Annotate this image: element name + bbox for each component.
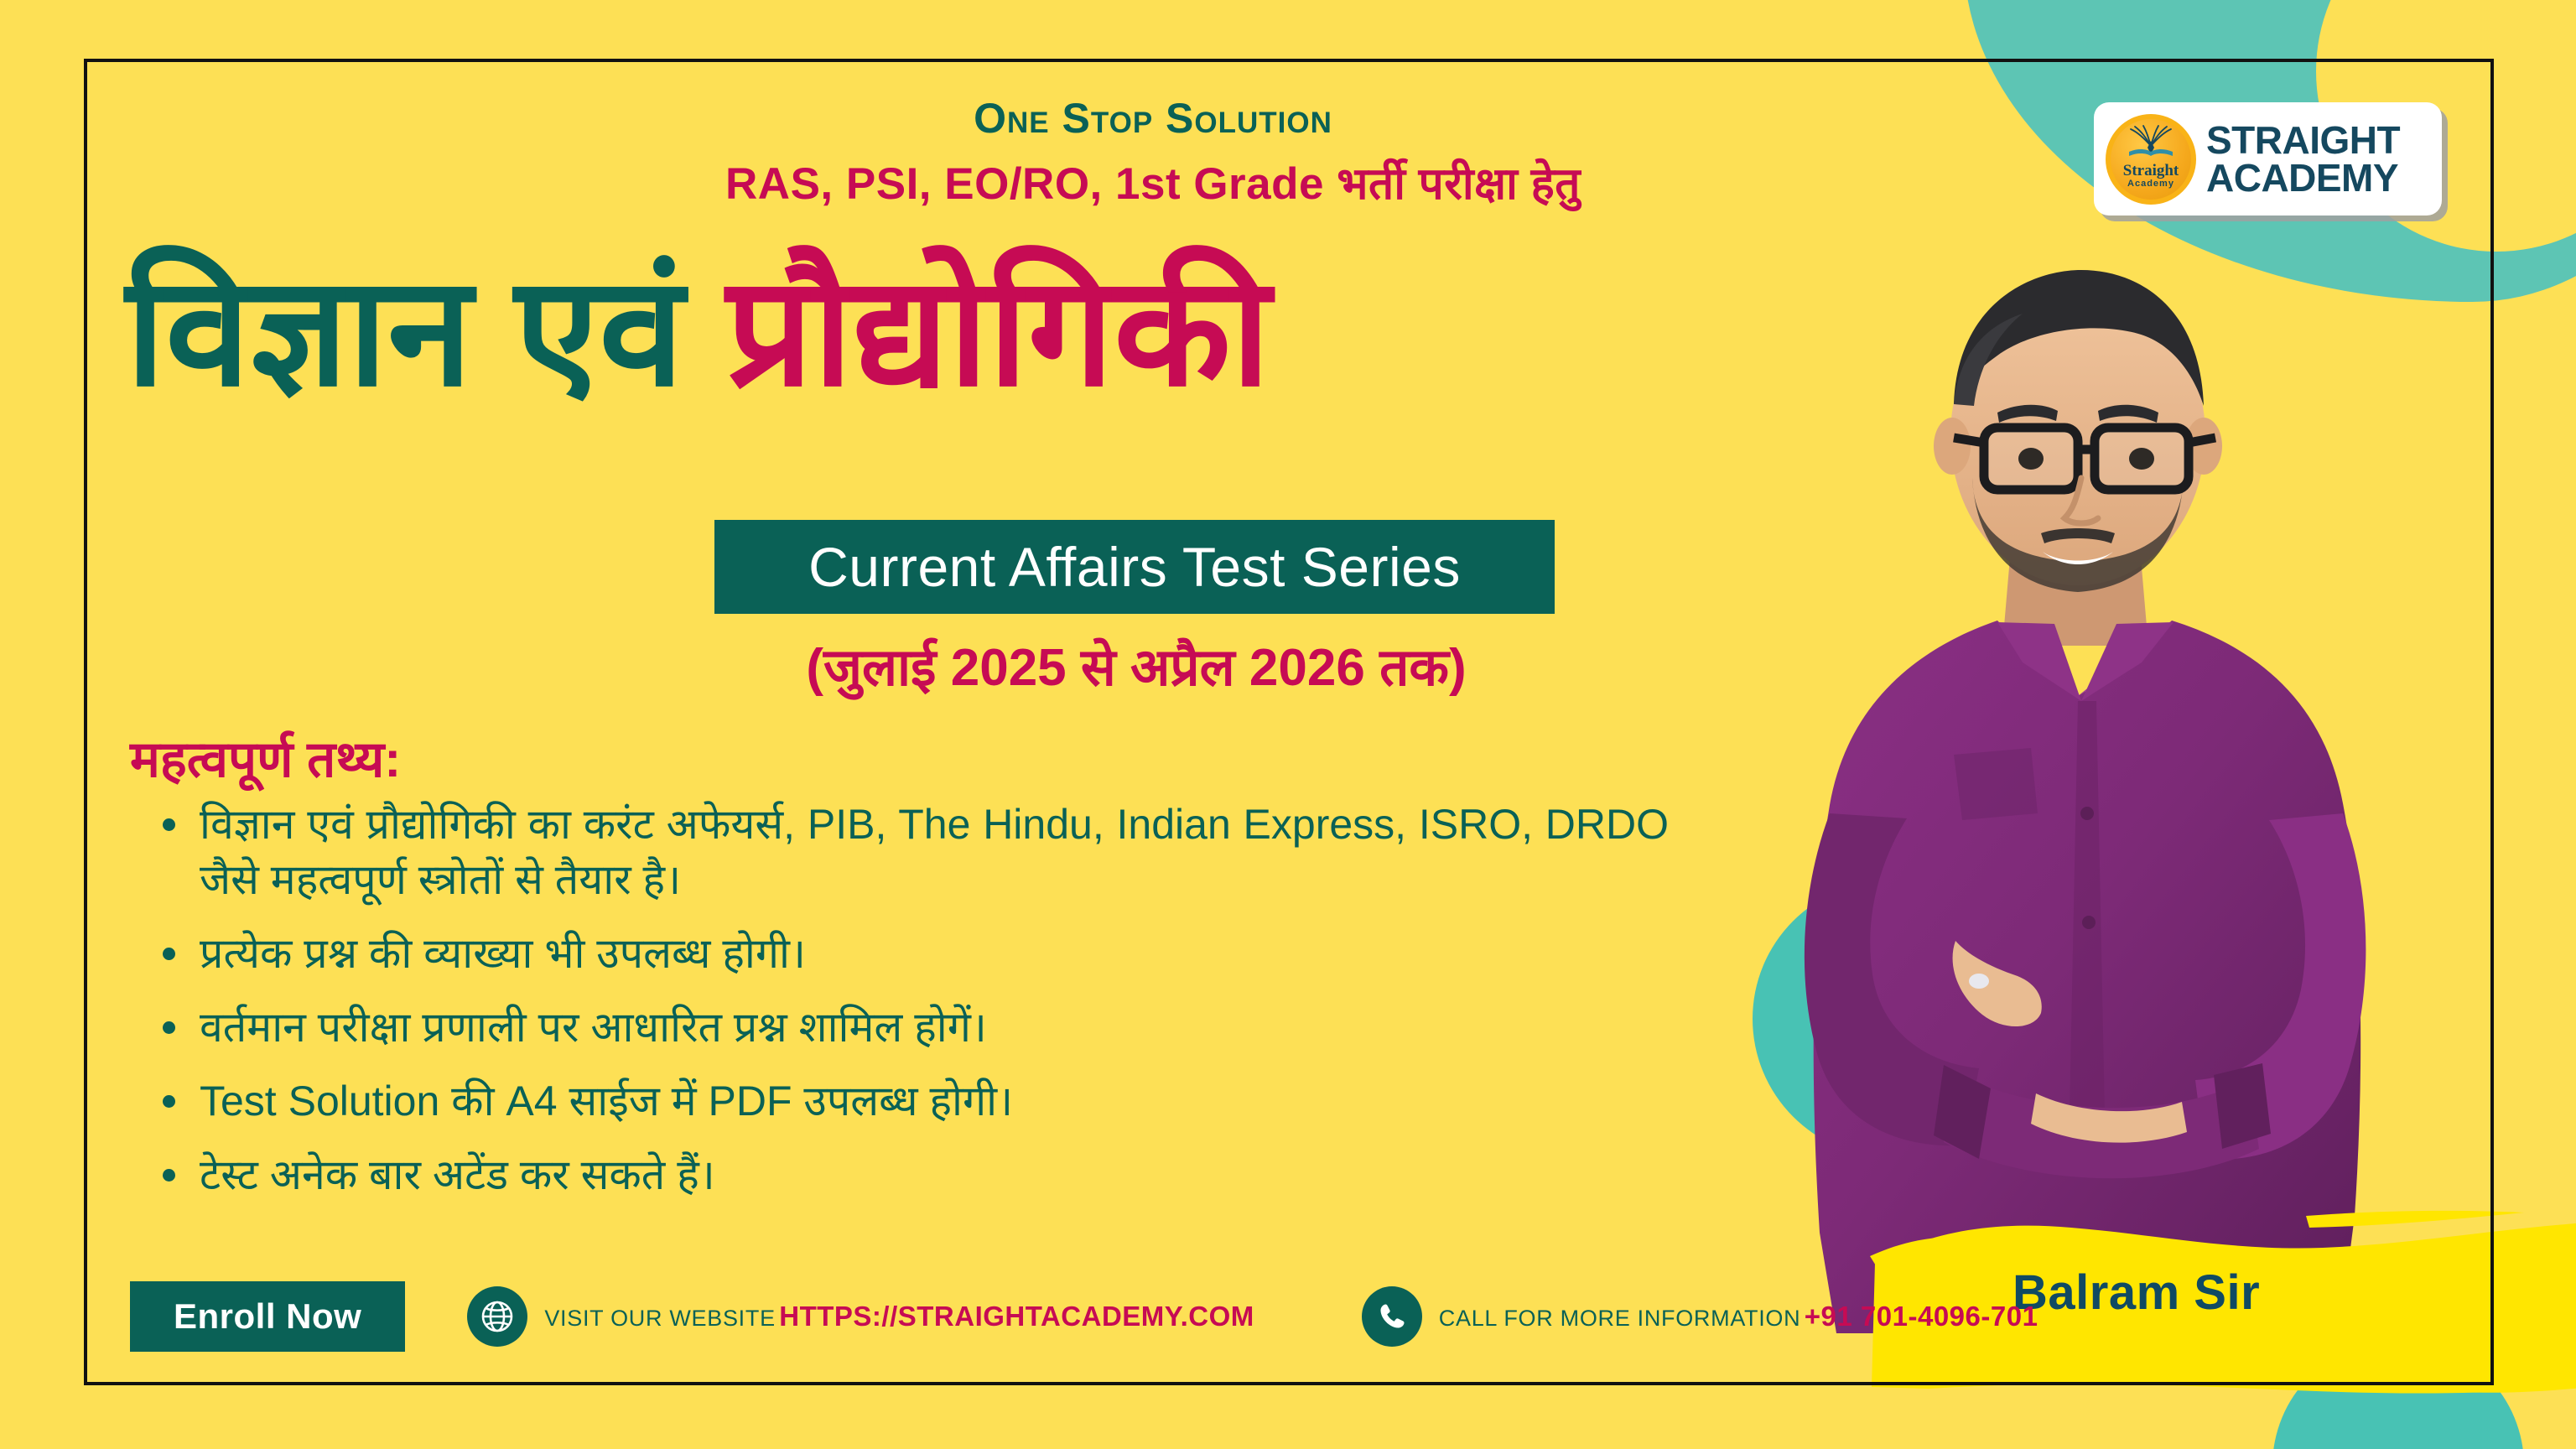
list-item: विज्ञान एवं प्रौद्योगिकी का करंट अफेयर्स… <box>151 797 1669 907</box>
enroll-now-button[interactable]: Enroll Now <box>130 1281 405 1352</box>
website-contact-block[interactable]: VISIT OUR WEBSITE HTTPS://STRAIGHTACADEM… <box>467 1286 1254 1347</box>
website-contact-text: VISIT OUR WEBSITE HTTPS://STRAIGHTACADEM… <box>544 1300 1254 1333</box>
exam-list-line: RAS, PSI, EO/RO, 1st Grade भर्ती परीक्षा… <box>0 151 2306 212</box>
page-title: विज्ञान एवं प्रौद्योगिकी <box>126 252 2012 412</box>
phone-contact-text: CALL FOR MORE INFORMATION +91 701-4096-7… <box>1439 1300 2038 1333</box>
eyebrow-tagline: One Stop Solution <box>0 94 2306 143</box>
highlights-list: विज्ञान एवं प्रौद्योगिकी का करंट अफेयर्स… <box>151 797 1669 1221</box>
course-date-range: (जुलाई 2025 से अप्रैल 2026 तक) <box>696 631 1576 701</box>
page-title-part-pink: प्रौद्योगिकी <box>726 246 1270 417</box>
footer-bar: Enroll Now VISIT OUR WEBSITE HTTPS://STR… <box>130 1281 2038 1352</box>
instructor-name: Balram Sir <box>2012 1265 2260 1321</box>
promotional-banner: Balram Sir Straight <box>0 0 2576 1449</box>
list-item: टेस्ट अनेक बार अटेंड कर सकते हैं। <box>151 1147 1669 1202</box>
website-caption: VISIT OUR WEBSITE <box>544 1306 775 1331</box>
phone-number[interactable]: +91 701-4096-701 <box>1805 1301 2038 1332</box>
globe-icon <box>467 1286 527 1347</box>
highlights-heading: महत्वपूर्ण तथ्य: <box>130 723 401 792</box>
course-subtitle-text: Current Affairs Test Series <box>808 535 1461 599</box>
phone-caption: CALL FOR MORE INFORMATION <box>1439 1306 1801 1331</box>
phone-contact-block[interactable]: CALL FOR MORE INFORMATION +91 701-4096-7… <box>1362 1286 2038 1347</box>
list-item: वर्तमान परीक्षा प्रणाली पर आधारित प्रश्न… <box>151 1000 1669 1055</box>
website-url[interactable]: HTTPS://STRAIGHTACADEMY.COM <box>779 1301 1254 1332</box>
list-item: Test Solution की A4 साईज में PDF उपलब्ध … <box>151 1073 1669 1129</box>
phone-icon <box>1362 1286 1422 1347</box>
course-subtitle-banner: Current Affairs Test Series <box>714 520 1555 614</box>
page-title-part-teal: विज्ञान एवं <box>126 246 726 417</box>
list-item-text: विज्ञान एवं प्रौद्योगिकी का करंट अफेयर्स… <box>200 797 1669 907</box>
list-item: प्रत्येक प्रश्न की व्याख्या भी उपलब्ध हो… <box>151 926 1669 981</box>
